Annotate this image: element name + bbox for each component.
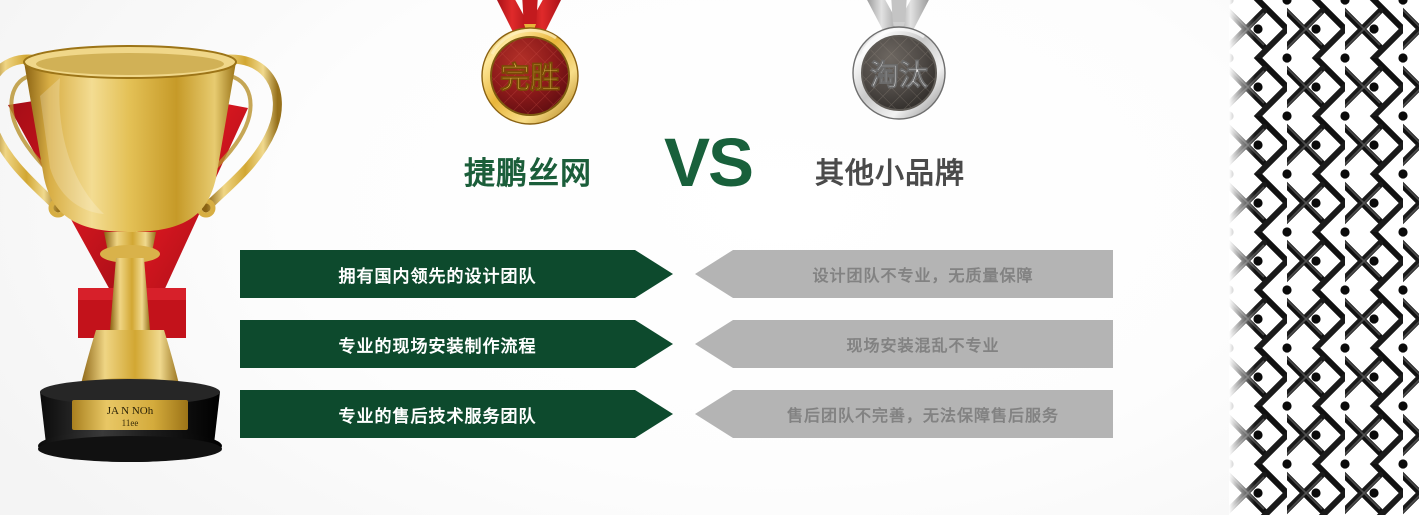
pro-label: 专业的现场安装制作流程	[339, 332, 537, 357]
comparison-row: 拥有国内领先的设计团队 设计团队不专业，无质量保障	[240, 250, 1120, 298]
comparison-banner: JA N NOh 11ee	[0, 0, 1419, 515]
con-label: 售后团队不完善，无法保障售后服务	[787, 402, 1059, 426]
pro-label: 专业的售后技术服务团队	[339, 402, 537, 427]
pro-bar: 专业的现场安装制作流程	[240, 320, 673, 368]
headline-row: 捷鹏丝网 VS 其他小品牌	[440, 140, 1000, 206]
trophy-plaque-line2: 11ee	[122, 418, 139, 428]
comparison-list: 拥有国内领先的设计团队 设计团队不专业，无质量保障 专业的现场安装制作流程 现场…	[240, 250, 1120, 438]
con-label: 现场安装混乱不专业	[846, 332, 999, 356]
comparison-row: 专业的售后技术服务团队 售后团队不完善，无法保障售后服务	[240, 390, 1120, 438]
brand-name-others: 其他小品牌	[815, 150, 965, 192]
pro-bar: 拥有国内领先的设计团队	[240, 250, 673, 298]
silver-medal-label: 淘汰	[870, 59, 928, 92]
trophy-stem	[110, 258, 150, 330]
versus-label: VS	[664, 128, 752, 197]
fence-fade-overlay	[1229, 0, 1255, 515]
pro-label: 拥有国内领先的设计团队	[339, 262, 537, 287]
trophy-plaque-line1: JA N NOh	[107, 405, 154, 417]
con-label: 设计团队不专业，无质量保障	[812, 262, 1033, 286]
gold-medal-label: 完胜	[500, 61, 560, 95]
con-bar: 现场安装混乱不专业	[695, 320, 1113, 368]
medal-ribbon-center	[522, 0, 538, 28]
comparison-row: 专业的现场安装制作流程 现场安装混乱不专业	[240, 320, 1120, 368]
con-bar: 设计团队不专业，无质量保障	[695, 250, 1113, 298]
chain-link-fence-icon	[1229, 0, 1419, 515]
silver-medal-icon: 淘汰	[832, 0, 966, 124]
pro-bar: 专业的售后技术服务团队	[240, 390, 673, 438]
gold-medal-icon: 完胜	[460, 0, 600, 130]
con-bar: 售后团队不完善，无法保障售后服务	[695, 390, 1113, 438]
brand-name-ours: 捷鹏丝网	[464, 148, 592, 193]
